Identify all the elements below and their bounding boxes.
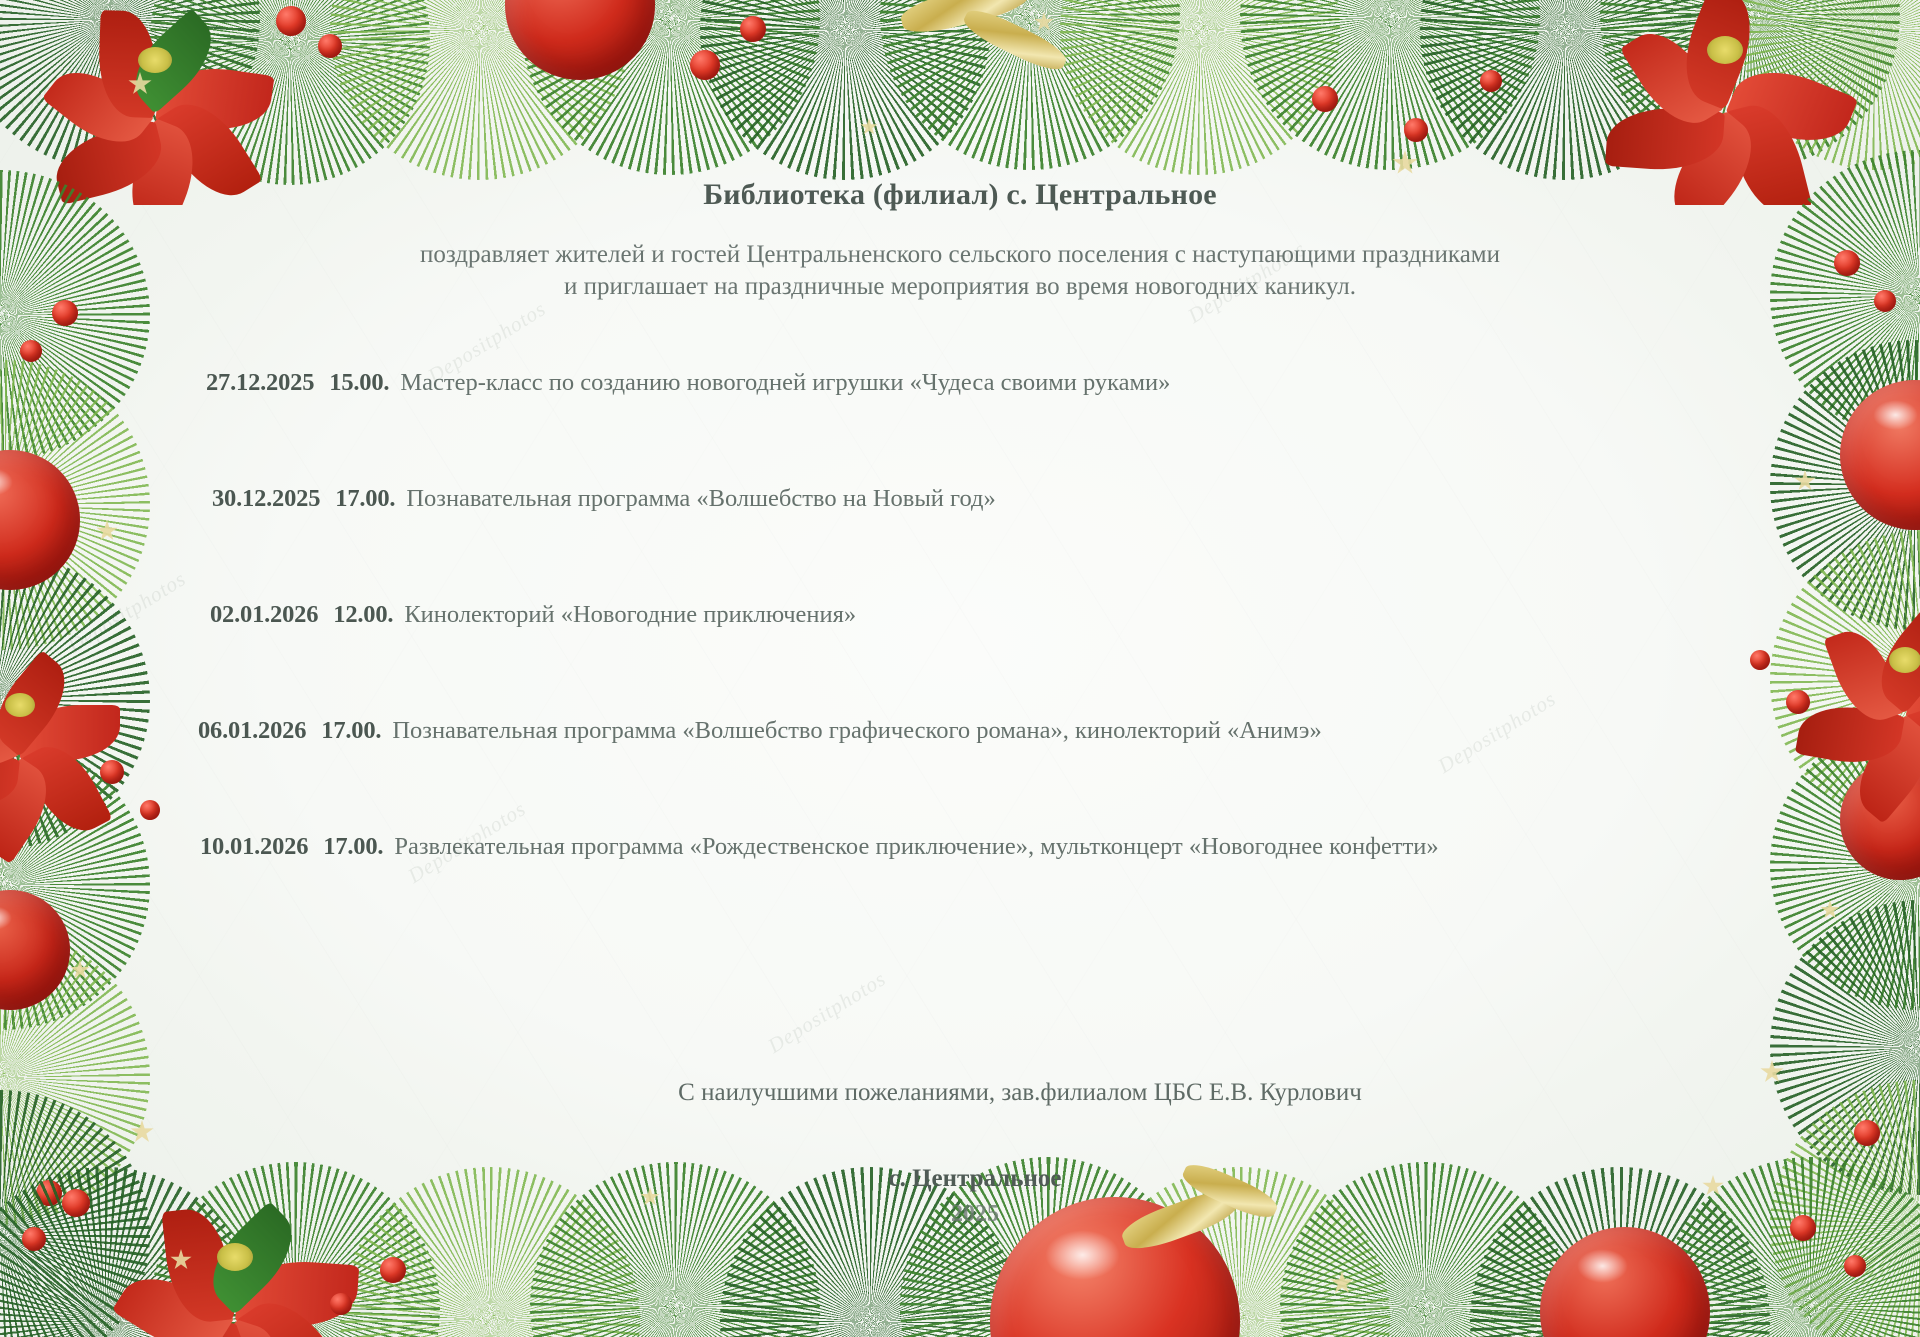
event-row: 10.01.2026 17.00. Развлекательная програ… [0, 833, 1920, 949]
event-date: 02.01.2026 [210, 601, 318, 629]
event-row: 30.12.2025 17.00. Познавательная програм… [0, 485, 1920, 601]
event-description: Мастер-класс по созданию новогодней игру… [400, 369, 1170, 397]
page-title: Библиотека (филиал) с. Центральное [0, 0, 1920, 212]
place-line: с. Центральное [0, 1107, 1920, 1193]
intro-line-2: и приглашает на праздничные мероприятия … [180, 271, 1740, 303]
intro-line-1: поздравляет жителей и гостей Центральнен… [180, 239, 1740, 271]
event-time: 17.00. [335, 485, 395, 513]
event-time: 12.00. [333, 601, 393, 629]
event-row: 06.01.2026 17.00. Познавательная програм… [0, 717, 1920, 833]
event-description: Познавательная программа «Волшебство на … [406, 485, 995, 513]
event-time: 17.00. [321, 717, 381, 745]
event-row: 02.01.2026 12.00. Кинолекторий «Новогодн… [0, 601, 1920, 717]
event-row: 27.12.2025 15.00. Мастер-класс по создан… [0, 369, 1920, 485]
event-time: 15.00. [329, 369, 389, 397]
event-date: 27.12.2025 [206, 369, 314, 397]
year-line: 2025 [0, 1193, 1920, 1228]
events-list: 27.12.2025 15.00. Мастер-класс по создан… [0, 303, 1920, 949]
event-date: 30.12.2025 [212, 485, 320, 513]
signature-line: С наилучшими пожеланиями, зав.филиалом Ц… [0, 949, 1920, 1107]
holiday-announcement-poster: Depositphotos Depositphotos Depositphoto… [0, 0, 1920, 1337]
event-description: Кинолекторий «Новогодние приключения» [404, 601, 856, 629]
event-description: Развлекательная программа «Рождественско… [394, 833, 1438, 861]
intro-paragraph: поздравляет жителей и гостей Центральнен… [0, 212, 1920, 303]
event-date: 10.01.2026 [200, 833, 308, 861]
event-date: 06.01.2026 [198, 717, 306, 745]
event-time: 17.00. [323, 833, 383, 861]
event-description: Познавательная программа «Волшебство гра… [392, 717, 1321, 745]
poster-content: Библиотека (филиал) с. Центральное поздр… [0, 0, 1920, 1228]
